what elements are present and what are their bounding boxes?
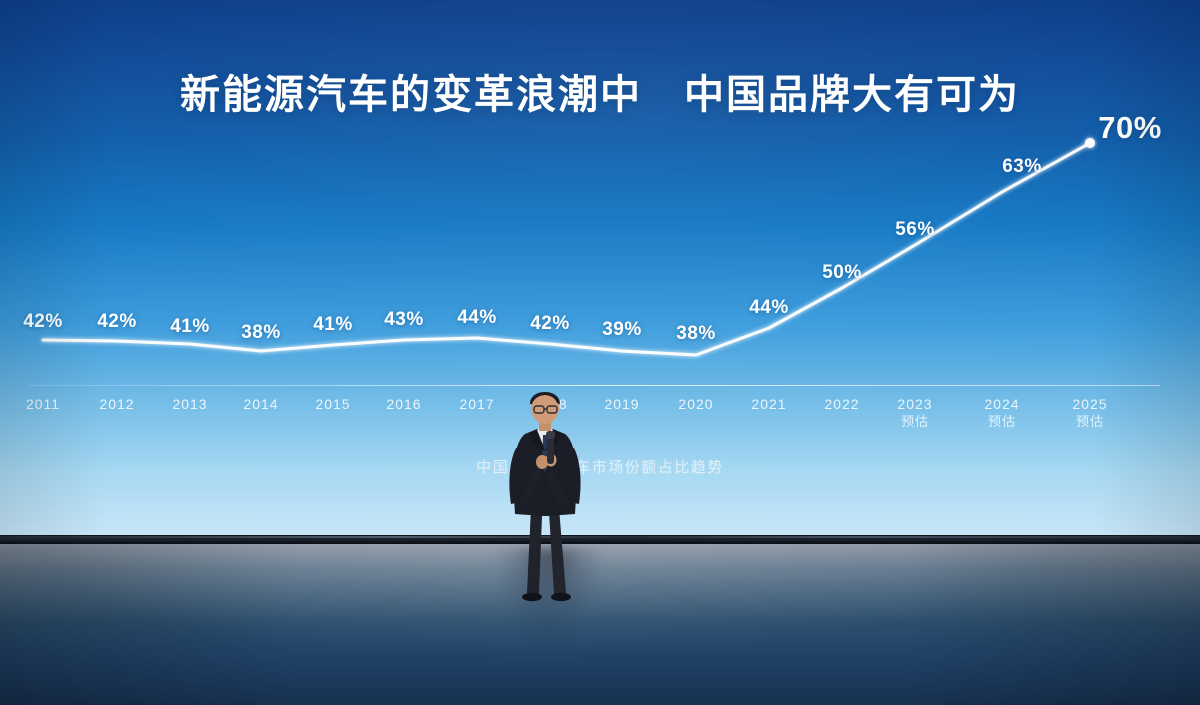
x-tick-2016: 2016 <box>386 396 421 413</box>
data-label-2014: 38% <box>241 322 281 344</box>
x-tick-2013: 2013 <box>172 396 207 413</box>
x-tick-2011: 2011 <box>26 396 60 413</box>
data-label-2012: 42% <box>97 311 137 333</box>
data-label-2020: 38% <box>676 323 716 345</box>
x-tick-2020: 2020 <box>678 396 713 413</box>
x-tick-2022: 2022 <box>824 396 859 413</box>
x-tick-2014: 2014 <box>243 396 278 413</box>
chart-caption: 中国品牌乘用车市场份额占比趋势 <box>0 456 1200 477</box>
data-label-2023: 56% <box>895 219 935 241</box>
speaker-person <box>497 388 593 618</box>
data-label-2025: 70% <box>1098 110 1162 146</box>
data-label-2015: 41% <box>313 314 353 336</box>
stage-floor <box>0 544 1200 705</box>
data-label-2021: 44% <box>749 297 789 319</box>
data-label-2024: 63% <box>1002 156 1042 178</box>
x-tick-2012: 2012 <box>99 396 134 413</box>
x-tick-note-2023: 预估 <box>897 413 932 430</box>
led-screen: 新能源汽车的变革浪潮中 中国品牌大有可为 42%42%41%38%41%43%4… <box>0 0 1200 538</box>
x-tick-2021: 2021 <box>751 396 786 413</box>
x-tick-2023: 2023预估 <box>897 396 932 430</box>
x-axis-line <box>28 385 1160 386</box>
x-tick-2017: 2017 <box>459 396 494 413</box>
x-tick-2019: 2019 <box>604 396 639 413</box>
x-tick-note-2025: 预估 <box>1072 413 1107 430</box>
data-label-2019: 39% <box>602 319 642 341</box>
data-label-2011: 42% <box>23 311 63 333</box>
data-label-2017: 44% <box>457 307 497 329</box>
line-chart-svg <box>0 110 1200 410</box>
x-tick-2025: 2025预估 <box>1072 396 1107 430</box>
data-label-2016: 43% <box>384 309 424 331</box>
data-label-2022: 50% <box>822 262 862 284</box>
presentation-photo: 新能源汽车的变革浪潮中 中国品牌大有可为 42%42%41%38%41%43%4… <box>0 0 1200 705</box>
data-label-2018: 42% <box>530 313 570 335</box>
x-tick-2024: 2024预估 <box>984 396 1019 430</box>
x-tick-note-2024: 预估 <box>984 413 1019 430</box>
data-label-2013: 41% <box>170 316 210 338</box>
x-tick-2015: 2015 <box>315 396 350 413</box>
market-share-line-chart: 42%42%41%38%41%43%44%42%39%38%44%50%56%6… <box>0 110 1200 410</box>
screen-bottom-frame <box>0 535 1200 544</box>
endpoint-marker <box>1085 138 1095 148</box>
